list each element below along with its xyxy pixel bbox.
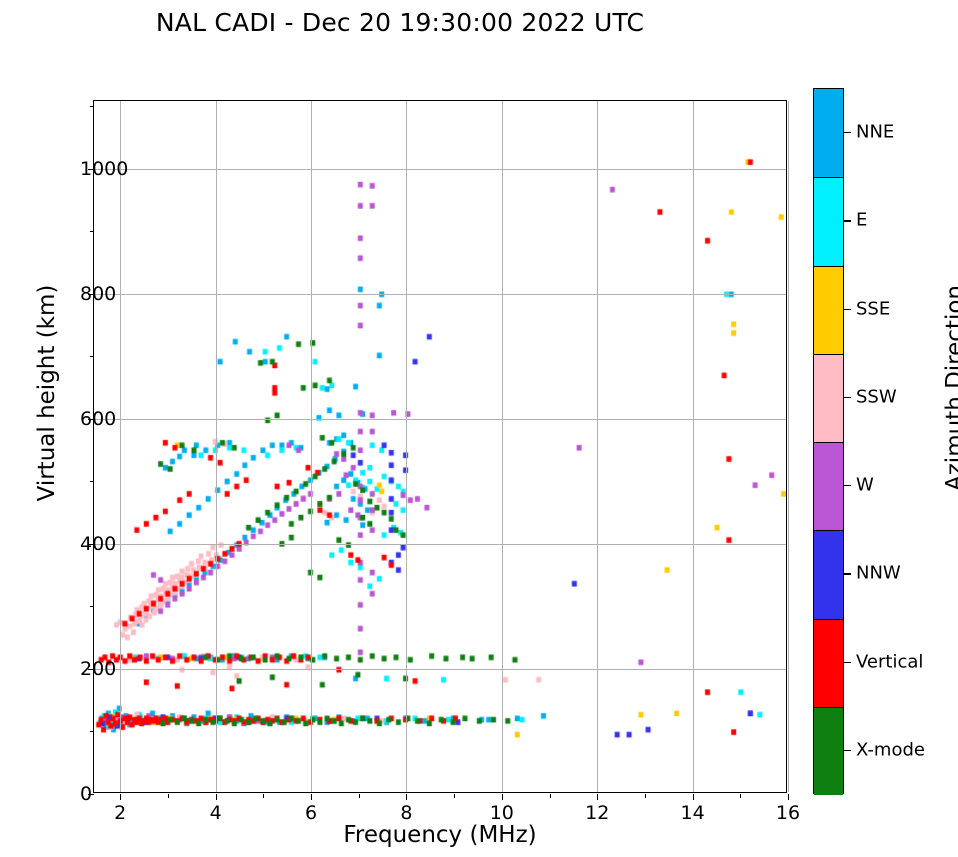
gridline-horizontal <box>94 544 786 545</box>
plot-area[interactable]: 24681012141602004006008001000 <box>93 100 787 793</box>
scatter-canvas <box>94 101 786 792</box>
colorbar-boundary <box>814 442 843 443</box>
colorbar-boundary <box>814 354 843 355</box>
x-tick-label: 2 <box>114 802 126 824</box>
colorbar-segment-sse[interactable] <box>814 266 843 354</box>
x-tick <box>311 794 312 800</box>
gridline-vertical <box>216 101 217 792</box>
x-tick-minor <box>263 794 264 798</box>
colorbar-boundary <box>814 530 843 531</box>
colorbar[interactable] <box>813 88 844 794</box>
colorbar-segment-e[interactable] <box>814 177 843 265</box>
x-tick-label: 14 <box>681 802 705 824</box>
colorbar-label-nne: NNE <box>856 122 894 143</box>
y-tick-minor <box>90 106 94 107</box>
colorbar-boundary <box>814 707 843 708</box>
gridline-horizontal <box>94 169 786 170</box>
gridline-vertical <box>406 101 407 792</box>
colorbar-boundary <box>814 177 843 178</box>
colorbar-segment-nne[interactable] <box>814 89 843 177</box>
x-tick-minor <box>740 794 741 798</box>
x-tick-minor <box>645 794 646 798</box>
colorbar-label-nnw: NNW <box>856 563 901 584</box>
colorbar-label-ssw: SSW <box>856 386 897 407</box>
y-tick-minor <box>90 481 94 482</box>
x-tick <box>693 794 694 800</box>
gridline-vertical <box>502 101 503 792</box>
x-tick-label: 10 <box>490 802 514 824</box>
y-axis-label: Virtual height (km) <box>34 193 60 593</box>
colorbar-segment-ssw[interactable] <box>814 354 843 442</box>
colorbar-segment-vertical[interactable] <box>814 619 843 707</box>
colorbar-label-w: W <box>856 475 874 496</box>
y-tick-minor <box>90 231 94 232</box>
gridline-vertical <box>311 101 312 792</box>
x-tick-label: 8 <box>400 802 412 824</box>
gridline-horizontal <box>94 419 786 420</box>
x-axis-label: Frequency (MHz) <box>93 822 787 848</box>
x-tick <box>120 794 121 800</box>
colorbar-boundary <box>814 619 843 620</box>
x-tick <box>788 794 789 800</box>
gridline-vertical <box>597 101 598 792</box>
chart-title: NAL CADI - Dec 20 19:30:00 2022 UTC <box>0 8 800 37</box>
gridline-horizontal <box>94 669 786 670</box>
colorbar-label-e: E <box>856 210 867 231</box>
colorbar-tick <box>844 220 851 221</box>
colorbar-label-vertical: Vertical <box>856 651 923 672</box>
colorbar-tick <box>844 573 851 574</box>
y-tick-minor <box>90 606 94 607</box>
colorbar-segment-x-mode[interactable] <box>814 707 843 795</box>
colorbar-tick <box>844 750 851 751</box>
y-tick-minor <box>90 356 94 357</box>
x-tick <box>502 794 503 800</box>
y-tick-minor <box>90 731 94 732</box>
colorbar-tick <box>844 132 851 133</box>
gridline-vertical <box>120 101 121 792</box>
colorbar-tick <box>844 662 851 663</box>
colorbar-tick <box>844 309 851 310</box>
x-tick-label: 6 <box>305 802 317 824</box>
x-tick <box>406 794 407 800</box>
x-tick-minor <box>550 794 551 798</box>
gridline-vertical <box>788 101 789 792</box>
gridline-vertical <box>693 101 694 792</box>
x-tick-label: 12 <box>585 802 609 824</box>
colorbar-label-x-mode: X-mode <box>856 739 925 760</box>
colorbar-segment-w[interactable] <box>814 442 843 530</box>
ionogram-figure: NAL CADI - Dec 20 19:30:00 2022 UTC 2468… <box>0 0 958 857</box>
colorbar-title: Azimuth Direction <box>942 188 958 588</box>
gridline-horizontal <box>94 294 786 295</box>
x-tick <box>216 794 217 800</box>
colorbar-label-sse: SSE <box>856 298 890 319</box>
x-tick-minor <box>454 794 455 798</box>
colorbar-tick <box>844 397 851 398</box>
x-tick <box>597 794 598 800</box>
x-tick-minor <box>359 794 360 798</box>
colorbar-segment-nnw[interactable] <box>814 530 843 618</box>
colorbar-tick <box>844 485 851 486</box>
colorbar-boundary <box>814 266 843 267</box>
x-tick-minor <box>168 794 169 798</box>
x-tick-label: 16 <box>776 802 800 824</box>
x-tick-label: 4 <box>210 802 222 824</box>
